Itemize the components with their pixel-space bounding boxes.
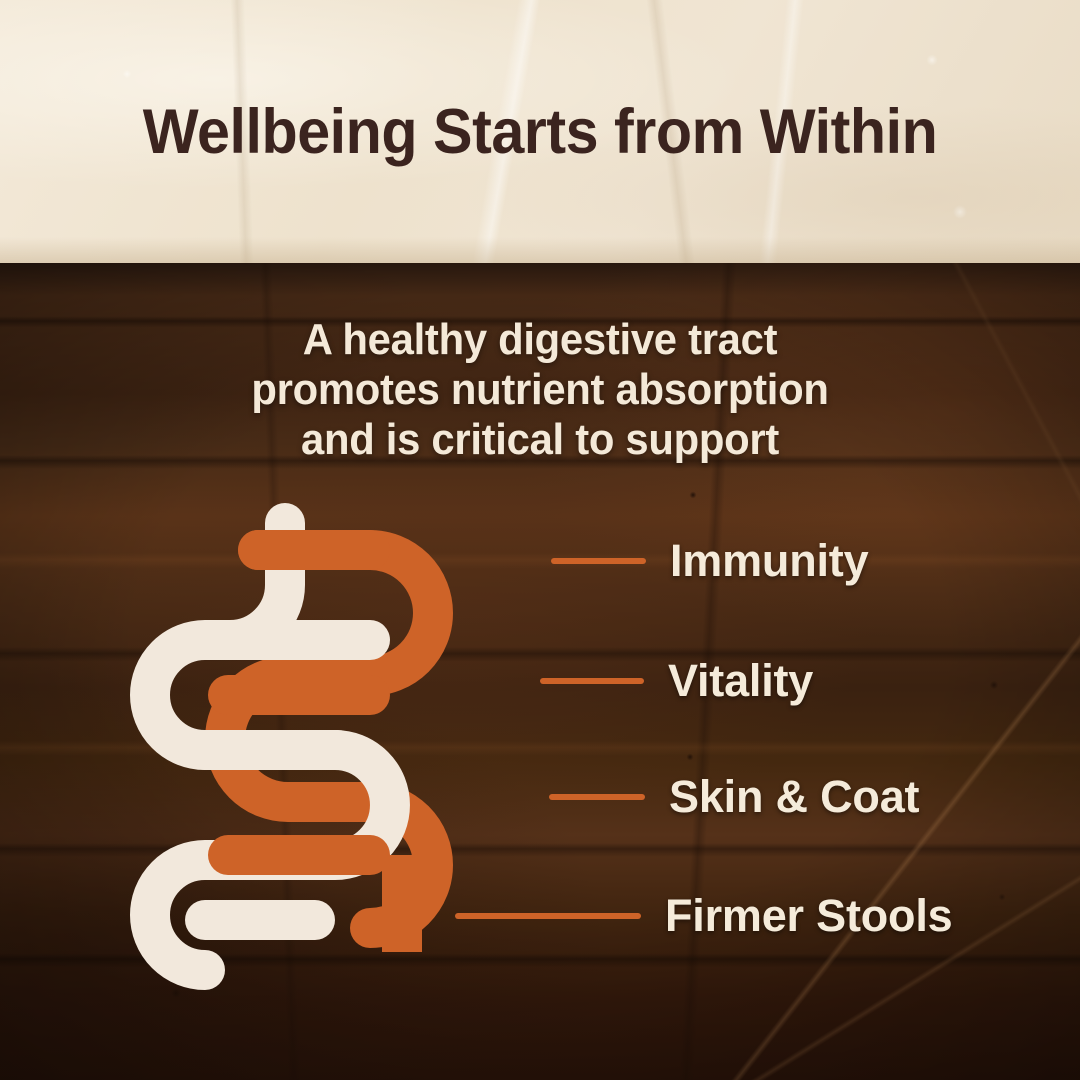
leader-dash-icon (551, 558, 646, 564)
poster-root: Wellbeing Starts from Within A healthy d… (0, 0, 1080, 1080)
intestine-svg (120, 505, 460, 965)
header-band: Wellbeing Starts from Within (0, 0, 1080, 263)
benefit-callout-firmer-stools: Firmer Stools (455, 888, 952, 944)
benefit-label: Skin & Coat (669, 771, 919, 823)
leader-dash-icon (549, 794, 645, 800)
subhead-line-2: promotes nutrient absorption (27, 365, 1053, 415)
benefit-callout-vitality: Vitality (540, 653, 813, 709)
leader-dash-icon (455, 913, 641, 919)
benefit-label: Vitality (668, 655, 813, 707)
benefit-callout-skin-and-coat: Skin & Coat (549, 769, 919, 825)
benefit-label: Immunity (670, 535, 868, 587)
intestine-illustration (120, 505, 460, 965)
paper-bottom-shadow (0, 237, 1080, 263)
subhead-line-3: and is critical to support (27, 415, 1053, 465)
benefit-callout-immunity: Immunity (551, 533, 868, 589)
leader-dash-icon (540, 678, 644, 684)
subhead-text: A healthy digestive tract promotes nutri… (27, 315, 1053, 465)
subhead-line-1: A healthy digestive tract (27, 315, 1053, 365)
page-title: Wellbeing Starts from Within (32, 97, 1047, 167)
benefit-label: Firmer Stools (665, 890, 952, 942)
